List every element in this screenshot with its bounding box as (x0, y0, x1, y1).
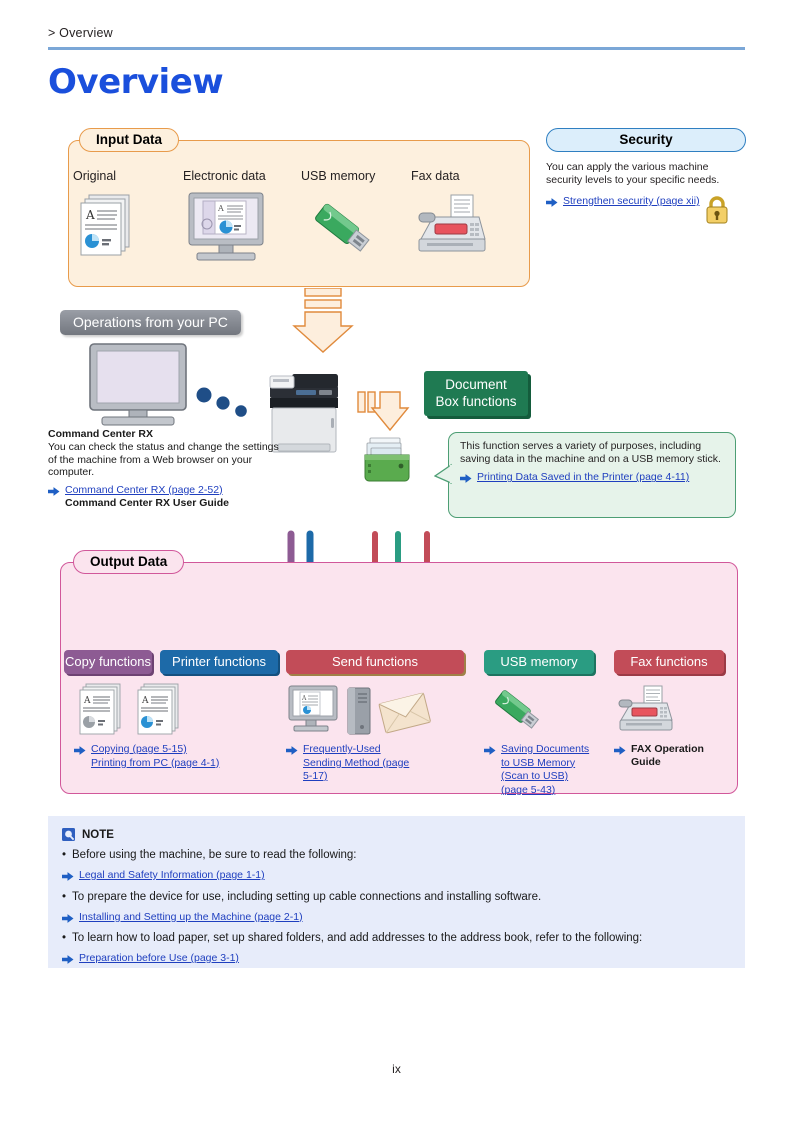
input-item-usb-memory: USB memory (301, 169, 411, 268)
operations-banner: Operations from your PC (60, 310, 241, 335)
function-button-fax[interactable]: Fax functions (614, 650, 724, 674)
document-stack-icon: A (73, 191, 139, 263)
security-link[interactable]: Strengthen security (page xii) (563, 195, 700, 209)
note-box: NOTE • Before using the machine, be sure… (48, 816, 745, 968)
output-cell-icons (484, 686, 602, 738)
output-link-copying[interactable]: Copying (page 5-15) (91, 743, 219, 757)
function-button-printer[interactable]: Printer functions (160, 650, 278, 674)
header-rule (48, 47, 745, 50)
fax-machine-icon (614, 684, 676, 738)
note-link-legal-safety[interactable]: Legal and Safety Information (page 1-1) (79, 869, 265, 883)
function-button-send[interactable]: Send functions (286, 650, 464, 674)
envelope-icon (376, 684, 434, 738)
output-cell-link-row[interactable]: Copying (page 5-15) Printing from PC (pa… (74, 743, 264, 770)
note-text: To learn how to load paper, set up share… (72, 931, 642, 946)
padlock-icon (704, 195, 730, 225)
document-box-banner-line2: Box functions (435, 394, 516, 409)
document-box-bubble: This function serves a variety of purpos… (448, 432, 736, 518)
note-info-icon (62, 828, 75, 841)
bullet: • (62, 848, 72, 863)
input-item-electronic-data: Electronic data A (183, 169, 301, 268)
document-box-bubble-text: This function serves a variety of purpos… (449, 433, 735, 465)
bubble-tail-icon (434, 463, 452, 485)
output-cell-link-row[interactable]: Saving Documents to USB Memory (Scan to … (484, 743, 602, 797)
arrow-right-icon (62, 870, 74, 883)
note-line: • To prepare the device for use, includi… (48, 890, 745, 905)
note-text: Before using the machine, be sure to rea… (72, 848, 356, 863)
arrow-right-icon (62, 953, 74, 966)
svg-text:A: A (301, 695, 307, 702)
monitor-document-icon: A (183, 191, 269, 263)
command-center-rx-guide: Command Center RX User Guide (65, 497, 288, 510)
document-stack-blue-icon: A (132, 682, 184, 738)
output-cell-icons: A A (74, 686, 264, 738)
document-box-banner: Document Box functions (424, 371, 528, 416)
output-guide-fax-operation: FAX Operation Guide (631, 743, 711, 769)
note-line: • Before using the machine, be sure to r… (48, 848, 745, 863)
note-title: NOTE (82, 829, 114, 841)
usb-drive-icon (484, 684, 550, 738)
note-link-row[interactable]: Preparation before Use (page 3-1) (48, 952, 745, 966)
pc-tower-icon (342, 684, 376, 738)
note-link-row[interactable]: Legal and Safety Information (page 1-1) (48, 869, 745, 883)
note-link-row[interactable]: Installing and Setting up the Machine (p… (48, 911, 745, 925)
output-link-saving-documents-to-usb[interactable]: Saving Documents to USB Memory (Scan to … (501, 743, 593, 797)
command-center-rx-block: Command Center RX You can check the stat… (48, 428, 288, 510)
note-header: NOTE (48, 816, 745, 841)
note-link-preparation-before-use[interactable]: Preparation before Use (page 3-1) (79, 952, 239, 966)
arrow-right-icon (48, 485, 60, 498)
document-box-bubble-link-row[interactable]: Printing Data Saved in the Printer (page… (460, 471, 735, 485)
output-cell-icons: A (286, 686, 476, 738)
page-title: Overview (48, 62, 223, 102)
output-data-label: Output Data (73, 550, 184, 574)
command-center-rx-link-row[interactable]: Command Center RX (page 2-52) (48, 484, 288, 498)
document-stack-gray-icon: A (74, 682, 126, 738)
function-button-usb[interactable]: USB memory (484, 650, 594, 674)
command-center-rx-link[interactable]: Command Center RX (page 2-52) (65, 484, 223, 498)
command-center-rx-heading: Command Center RX (48, 428, 288, 441)
breadcrumb: > Overview (48, 26, 113, 40)
document-page: > Overview Overview Input Data Original … (0, 0, 793, 1122)
note-text: To prepare the device for use, including… (72, 890, 541, 905)
output-link-printing-from-pc[interactable]: Printing from PC (page 4-1) (91, 757, 219, 771)
output-cell-guide-row: FAX Operation Guide (614, 743, 724, 769)
arrow-right-icon (614, 744, 626, 757)
connection-dots-icon (196, 386, 250, 420)
input-item-label: Electronic data (183, 169, 301, 183)
output-cell-link-row[interactable]: Frequently-Used Sending Method (page 5-1… (286, 743, 476, 784)
output-cell-usb: Saving Documents to USB Memory (Scan to … (484, 686, 602, 797)
bullet: • (62, 890, 72, 905)
svg-text:A: A (83, 696, 91, 706)
input-item-label: USB memory (301, 169, 411, 183)
output-link-frequently-used-sending-method[interactable]: Frequently-Used Sending Method (page 5-1… (303, 743, 415, 784)
note-line: • To learn how to load paper, set up sha… (48, 931, 745, 946)
arrow-right-icon (484, 744, 496, 757)
document-box-banner-line1: Document (445, 377, 507, 392)
input-data-panel: Input Data Original A (68, 140, 530, 287)
svg-text:A: A (85, 208, 95, 222)
down-arrow-icon (288, 288, 358, 360)
usb-drive-icon (301, 191, 381, 263)
security-link-row[interactable]: Strengthen security (page xii) (546, 195, 746, 225)
input-items-row: Original A (69, 169, 529, 268)
arrow-right-icon (286, 744, 298, 757)
document-box-bubble-link[interactable]: Printing Data Saved in the Printer (page… (477, 471, 689, 485)
green-document-box-icon (360, 436, 414, 484)
svg-text:A: A (141, 696, 149, 706)
command-center-rx-body: You can check the status and change the … (48, 441, 288, 479)
arrow-right-icon (546, 196, 558, 209)
svg-text:A: A (217, 204, 224, 213)
input-item-original: Original A (73, 169, 183, 268)
page-number: ix (0, 1062, 793, 1076)
output-cell-icons (614, 686, 724, 738)
monitor-icon (88, 342, 200, 426)
output-cell-send: A (286, 686, 476, 784)
function-button-copy[interactable]: Copy functions (64, 650, 152, 674)
arrow-right-icon (460, 472, 472, 485)
monitor-icon: A (286, 684, 342, 738)
output-cell-copy: A A (74, 686, 264, 770)
bullet: • (62, 931, 72, 946)
input-item-label: Fax data (411, 169, 511, 183)
input-item-fax-data: Fax data (411, 169, 511, 268)
security-label: Security (546, 128, 746, 152)
arrow-right-icon (62, 912, 74, 925)
output-cell-fax: FAX Operation Guide (614, 686, 724, 769)
down-arrow-small-icon (356, 390, 414, 442)
note-link-installing-machine[interactable]: Installing and Setting up the Machine (p… (79, 911, 303, 925)
arrow-right-icon (74, 744, 86, 757)
security-description: You can apply the various machine securi… (546, 161, 746, 187)
security-box: Security You can apply the various machi… (546, 128, 746, 225)
input-item-label: Original (73, 169, 183, 183)
input-data-label: Input Data (79, 128, 179, 152)
fax-machine-icon (411, 191, 491, 263)
